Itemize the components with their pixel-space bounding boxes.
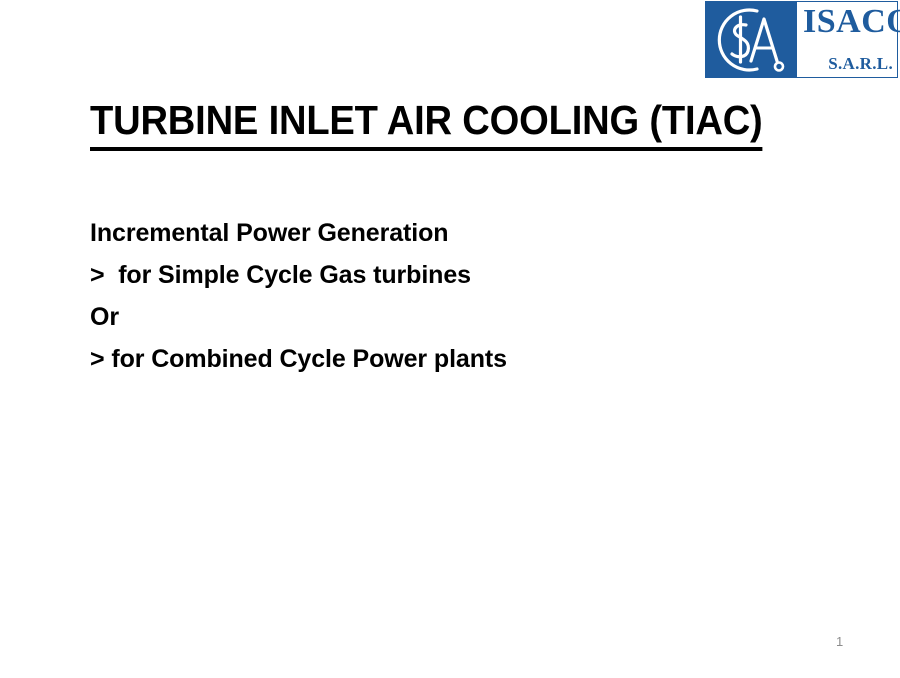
brand-name: ISACO (803, 5, 900, 39)
isaco-dollar-a-circle-icon (705, 1, 797, 78)
body-line: Or (90, 296, 790, 338)
body-line: Incremental Power Generation (90, 212, 790, 254)
page-number: 1 (836, 635, 843, 648)
isaco-wordmark: ISACO S.A.R.L. (797, 1, 898, 78)
brand-legal-form: S.A.R.L. (828, 55, 893, 72)
body-text-block: Incremental Power Generation > for Simpl… (90, 212, 790, 380)
slide-canvas: ISACO S.A.R.L. TURBINE INLET AIR COOLING… (0, 0, 900, 678)
page-title: TURBINE INLET AIR COOLING (TIAC) (90, 96, 763, 151)
isaco-logo: ISACO S.A.R.L. (705, 1, 898, 78)
body-line: > for Combined Cycle Power plants (90, 338, 790, 380)
body-line: > for Simple Cycle Gas turbines (90, 254, 790, 296)
